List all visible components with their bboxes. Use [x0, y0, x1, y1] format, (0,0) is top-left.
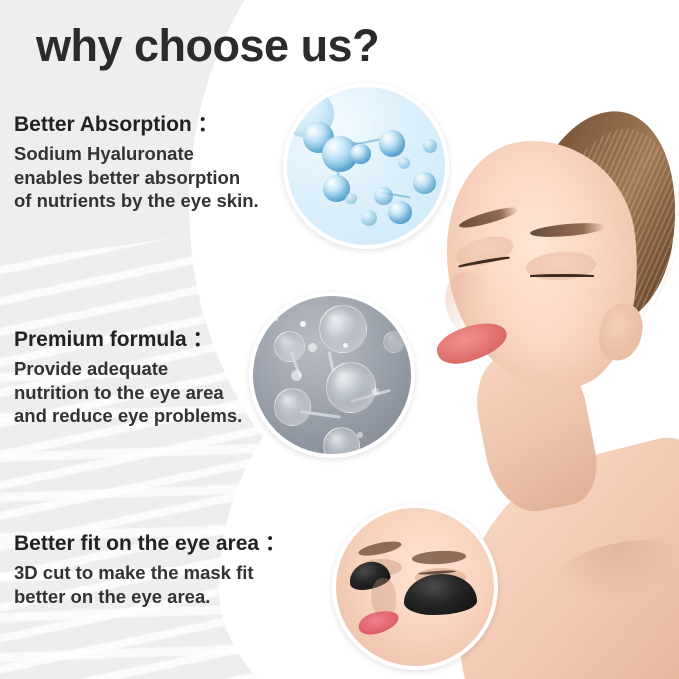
model-ear	[594, 299, 647, 364]
feature-block-premium-formula: Premium formula ： Provide adequate nutri…	[14, 323, 242, 428]
model-eyebrow-left	[458, 204, 521, 232]
eye-mask-photo	[332, 504, 498, 670]
feature-body-better-fit: 3D cut to make the mask fit better on th…	[14, 561, 286, 608]
model-eyebrow-right	[530, 221, 607, 240]
model-face	[433, 129, 652, 400]
page-title: why choose us?	[36, 20, 379, 72]
feature-body-line: better on the eye area.	[14, 585, 286, 609]
feature-heading-better-fit: Better fit on the eye area ：	[14, 527, 286, 557]
feature-heading-premium-formula: Premium formula ：	[14, 323, 242, 353]
feature-body-line: 3D cut to make the mask fit	[14, 561, 286, 585]
feature-body-better-absorption: Sodium Hyaluronate enables better absorp…	[14, 142, 259, 213]
feature-block-better-absorption: Better Absorption ： Sodium Hyaluronate e…	[14, 108, 259, 213]
feature-block-better-fit: Better fit on the eye area ： 3D cut to m…	[14, 527, 286, 608]
model-hair	[508, 99, 679, 337]
model-eyelid-left	[454, 231, 517, 270]
model-eyelash-left	[458, 256, 510, 268]
model-eyelash-right	[530, 274, 594, 277]
model-eyelid-right	[525, 250, 597, 283]
poster-root: why choose us? Better Absorption ： Sodiu…	[0, 0, 679, 679]
model-collarbone	[545, 529, 679, 617]
grey-molecule-photo	[249, 292, 415, 458]
feature-body-line: nutrition to the eye area	[14, 381, 242, 405]
feature-heading-better-absorption: Better Absorption ：	[14, 108, 259, 138]
eye-mask-art	[336, 508, 494, 666]
feature-body-line: enables better absorption	[14, 166, 259, 190]
grey-molecule-art	[253, 296, 411, 454]
model-hair-strands	[534, 118, 679, 338]
model-nose	[441, 269, 495, 340]
model-lips	[433, 316, 512, 370]
feature-body-line: of nutrients by the eye skin.	[14, 189, 259, 213]
feature-body-line: Provide adequate	[14, 357, 242, 381]
feature-body-line: and reduce eye problems.	[14, 404, 242, 428]
feature-body-premium-formula: Provide adequate nutrition to the eye ar…	[14, 357, 242, 428]
blue-molecule-art	[287, 87, 445, 245]
model-neck	[468, 341, 605, 519]
model-cheek	[490, 288, 600, 378]
blue-molecule-photo	[283, 83, 449, 249]
feature-body-line: Sodium Hyaluronate	[14, 142, 259, 166]
